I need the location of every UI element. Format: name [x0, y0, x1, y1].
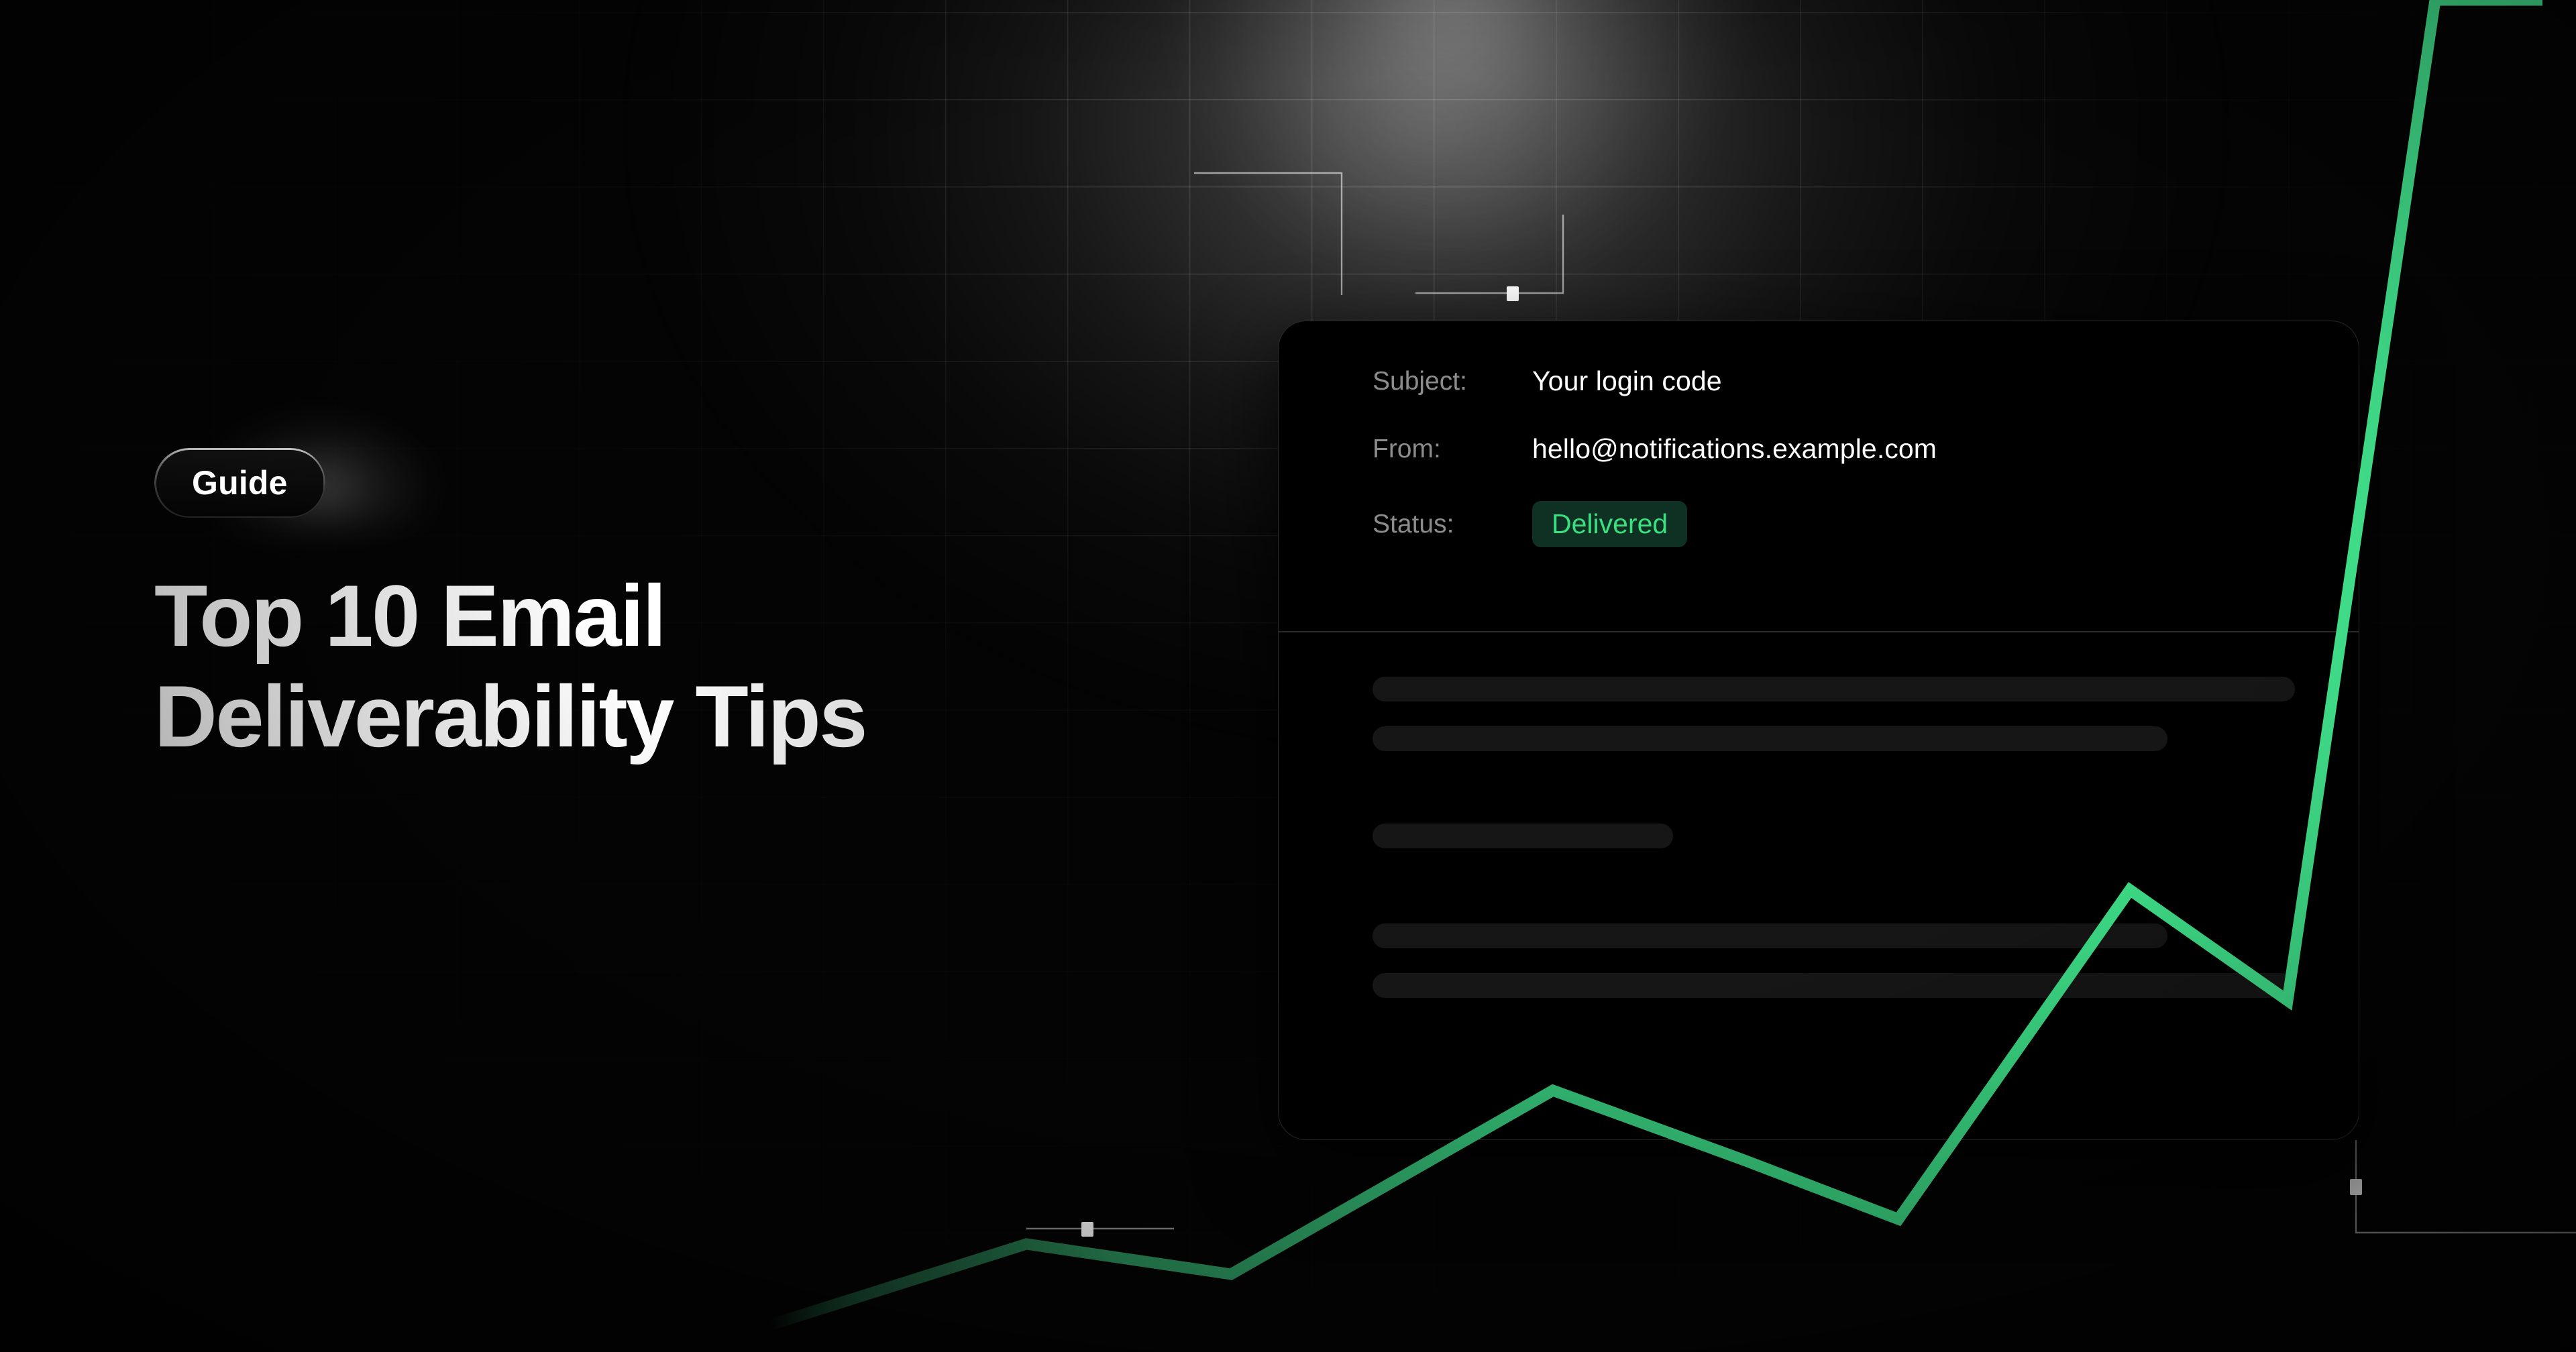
email-subject-value: Your login code	[1532, 365, 1722, 397]
guide-badge-label: Guide	[192, 463, 288, 502]
skeleton-bar	[1373, 824, 1673, 848]
page-title-line-1: Top 10 Email	[154, 566, 1161, 667]
card-divider	[1279, 631, 2359, 632]
email-row-status: Status: Delivered	[1373, 501, 2359, 547]
email-preview-card: Subject: Your login code From: hello@not…	[1278, 321, 2359, 1140]
email-card-header: Subject: Your login code From: hello@not…	[1279, 321, 2359, 547]
hero-copy: Guide Top 10 Email Deliverability Tips	[154, 448, 1161, 767]
page-title: Top 10 Email Deliverability Tips	[154, 566, 1161, 767]
email-subject-label: Subject:	[1373, 367, 1532, 396]
email-row-subject: Subject: Your login code	[1373, 365, 2359, 397]
email-from-value: hello@notifications.example.com	[1532, 433, 1937, 465]
email-body-skeleton	[1373, 677, 2359, 998]
page-title-line-2: Deliverability Tips	[154, 667, 1161, 767]
guide-badge: Guide	[154, 448, 325, 518]
email-status-label: Status:	[1373, 510, 1532, 539]
email-from-label: From:	[1373, 435, 1532, 464]
skeleton-bar	[1373, 677, 2295, 701]
skeleton-bar	[1373, 973, 2295, 998]
skeleton-bar	[1373, 726, 2167, 751]
hero-banner: Guide Top 10 Email Deliverability Tips S…	[0, 0, 2576, 1352]
status-badge: Delivered	[1532, 501, 1687, 547]
email-row-from: From: hello@notifications.example.com	[1373, 433, 2359, 465]
skeleton-bar	[1373, 923, 2167, 948]
